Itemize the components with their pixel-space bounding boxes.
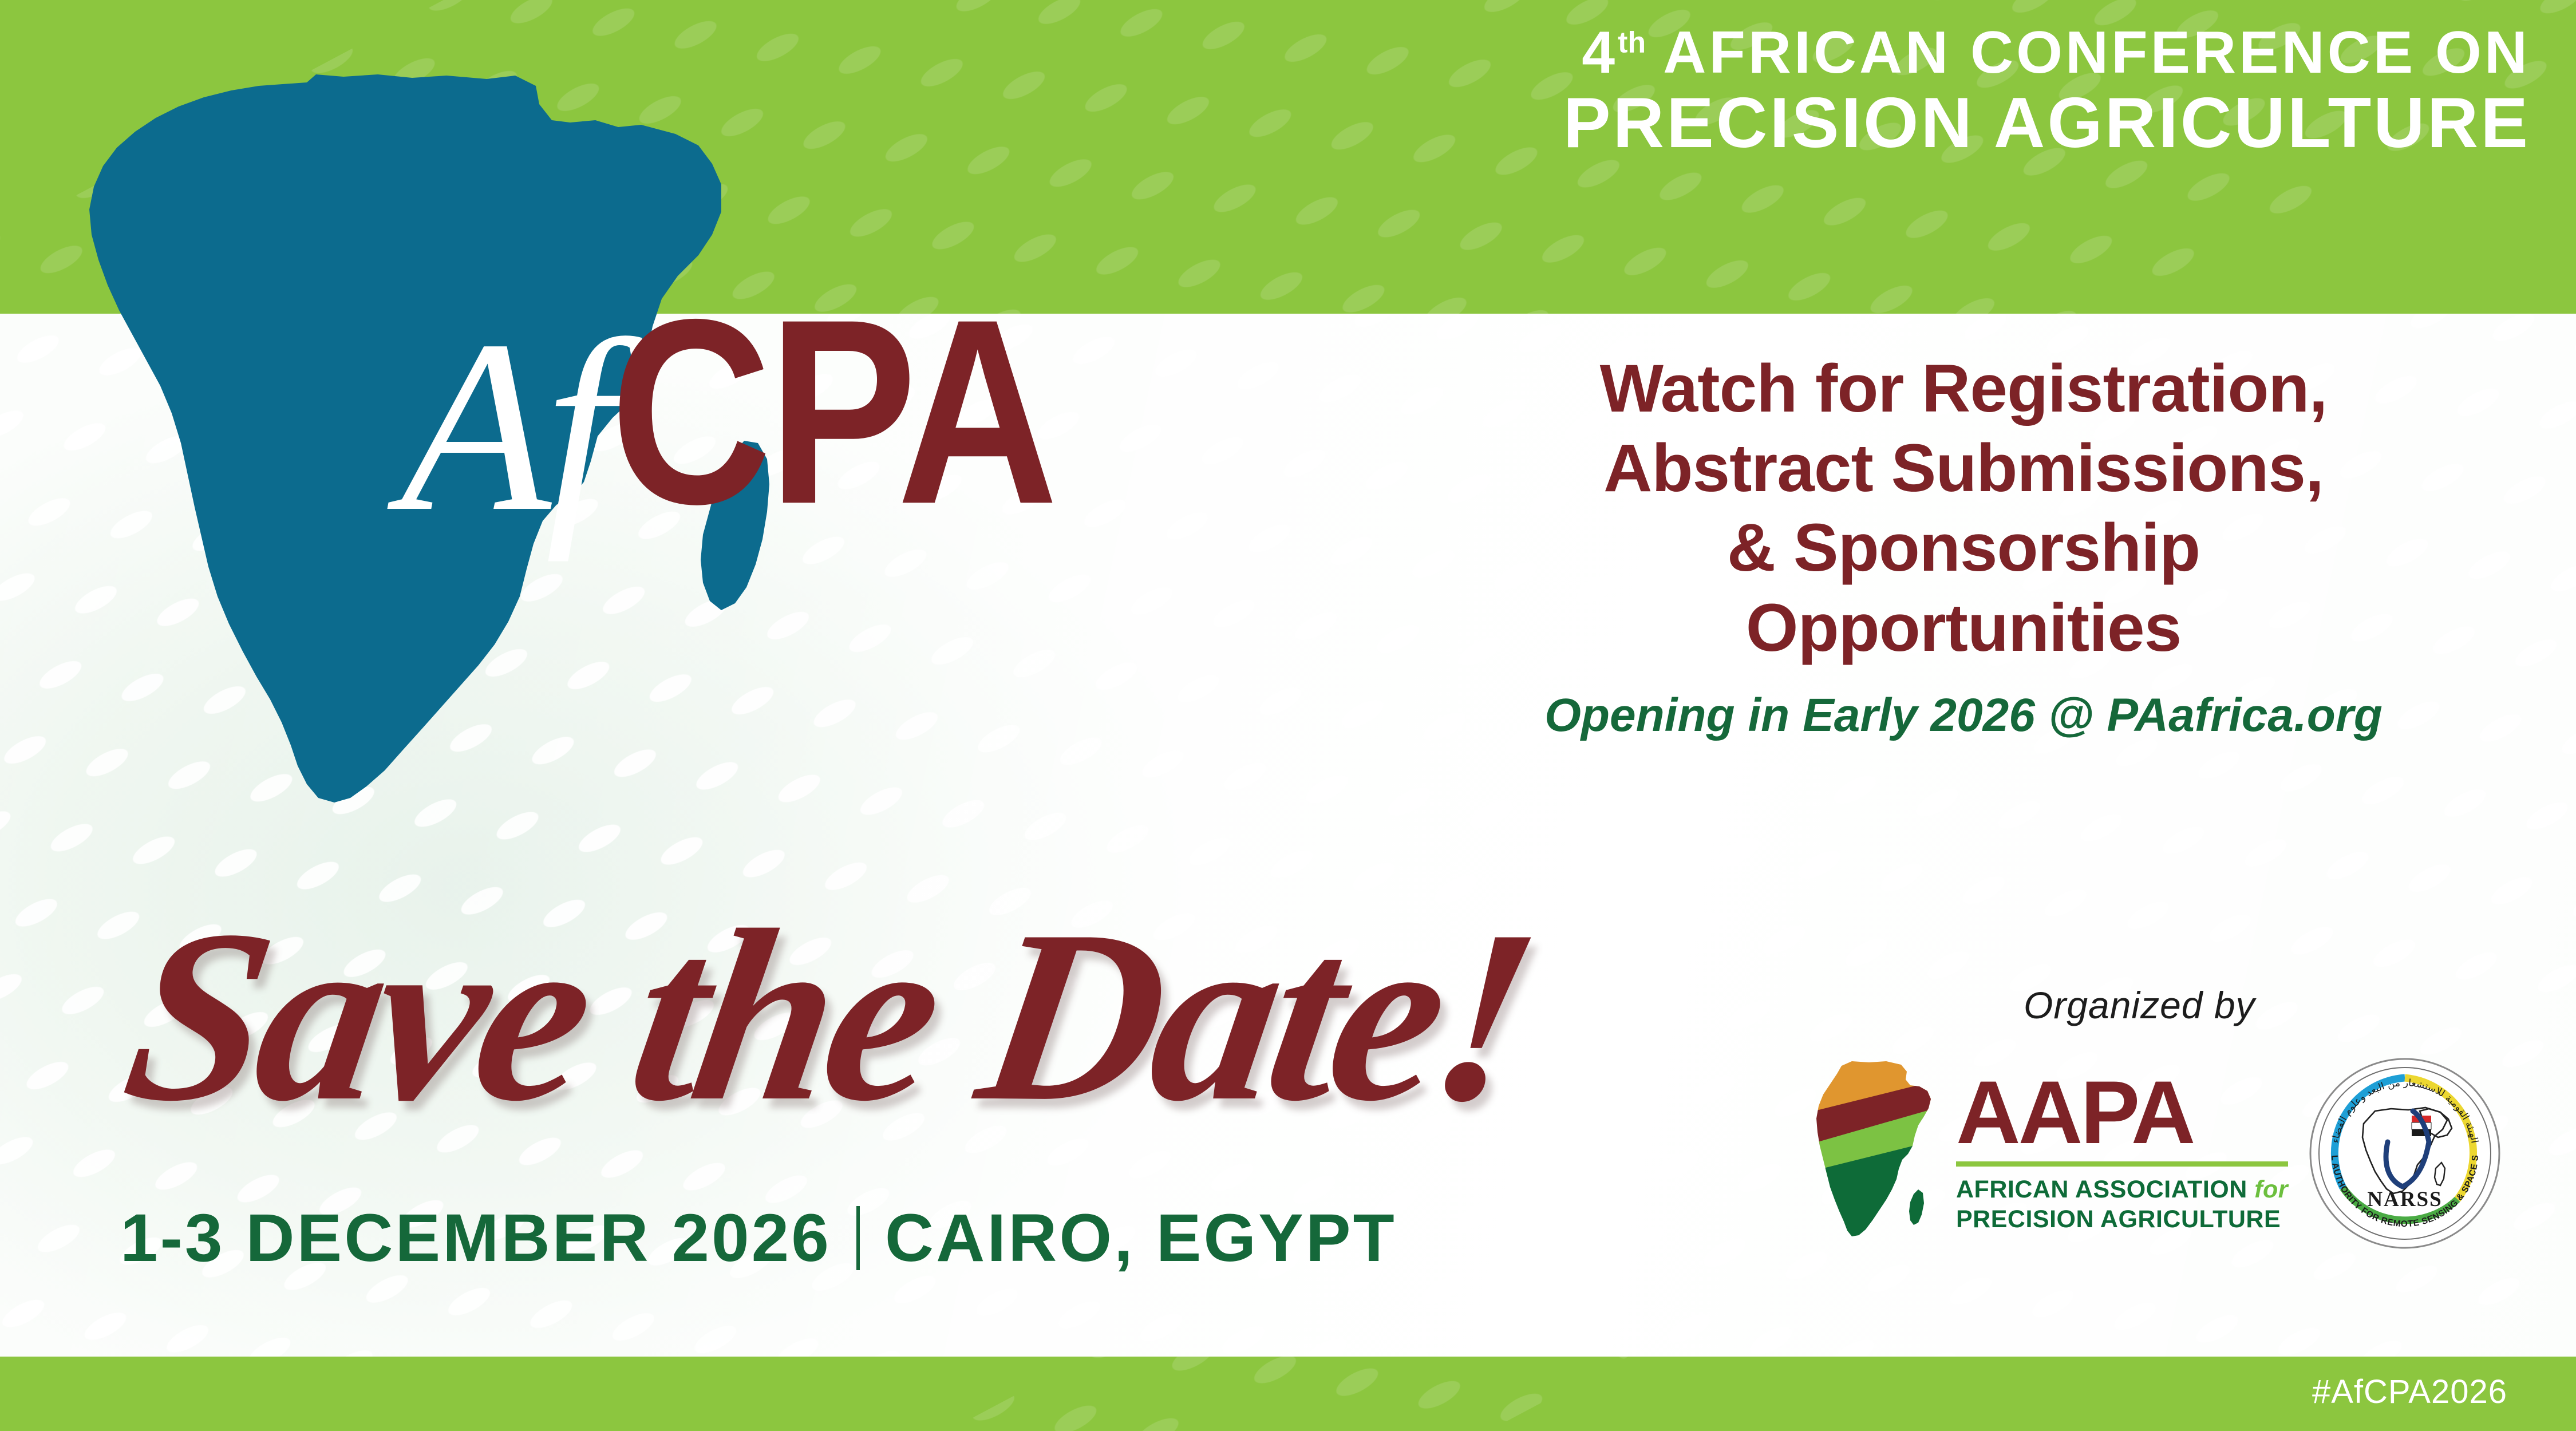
afcpa-cpa-text: CPA (610, 280, 1054, 543)
save-the-date-headline: Save the Date! (112, 893, 1546, 1139)
conference-ordinal-line: 4th AFRICAN CONFERENCE ON (1582, 22, 2530, 84)
promo-line-1: Watch for Registration, (1420, 349, 2507, 429)
afcpa-af-text: Af (401, 303, 608, 550)
organizer-logos: AAPA AFRICAN ASSOCIATION for PRECISION A… (1812, 1056, 2502, 1251)
conference-name-line1: AFRICAN CONFERENCE ON (1646, 19, 2530, 86)
aapa-divider-rule (1956, 1161, 2288, 1167)
event-location: CAIRO, EGYPT (885, 1199, 1397, 1277)
aapa-acronym: AAPA (1956, 1072, 2288, 1155)
footer-bar-pattern (0, 1357, 2576, 1431)
event-date-location-line: 1-3 DECEMBER 2026 CAIRO, EGYPT (120, 1199, 1397, 1277)
conference-ordinal-number: 4 (1582, 19, 1618, 86)
promo-line-4: Opportunities (1420, 588, 2507, 668)
footer-green-bar (0, 1357, 2576, 1431)
promo-website-subtitle: Opening in Early 2026 @ PAafrica.org (1420, 689, 2507, 742)
aapa-subtitle-line2: PRECISION AGRICULTURE (1956, 1205, 2281, 1233)
aapa-subtitle-for: for (2254, 1176, 2288, 1203)
narss-logo-seal: NARSS NATIONAL AUTHORITY FOR REMOTE SENS… (2308, 1056, 2502, 1251)
save-the-date-banner: 4th AFRICAN CONFERENCE ON PRECISION AGRI… (0, 0, 2576, 1431)
organized-by-label: Organized by (2024, 983, 2255, 1027)
aapa-logo: AAPA AFRICAN ASSOCIATION for PRECISION A… (1812, 1059, 2288, 1248)
footer-hashtag: #AfCPA2026 (2312, 1373, 2507, 1411)
promo-text-block: Watch for Registration, Abstract Submiss… (1420, 349, 2507, 742)
aapa-logo-text: AAPA AFRICAN ASSOCIATION for PRECISION A… (1956, 1072, 2288, 1234)
conference-ordinal-suffix: th (1618, 26, 1646, 59)
date-location-separator (856, 1206, 860, 1270)
aapa-subtitle-line1: AFRICAN ASSOCIATION (1956, 1176, 2254, 1203)
aapa-subtitle: AFRICAN ASSOCIATION for PRECISION AGRICU… (1956, 1175, 2288, 1235)
narss-acronym-text: NARSS (2367, 1188, 2442, 1211)
conference-name-line2: PRECISION AGRICULTURE (1563, 86, 2530, 160)
promo-line-2: Abstract Submissions, (1420, 429, 2507, 508)
aapa-africa-map-icon (1812, 1059, 1943, 1248)
afcpa-logo-wordmark: Af CPA (401, 303, 1055, 550)
promo-line-3: & Sponsorship (1420, 508, 2507, 588)
event-dates: 1-3 DECEMBER 2026 (120, 1199, 831, 1277)
